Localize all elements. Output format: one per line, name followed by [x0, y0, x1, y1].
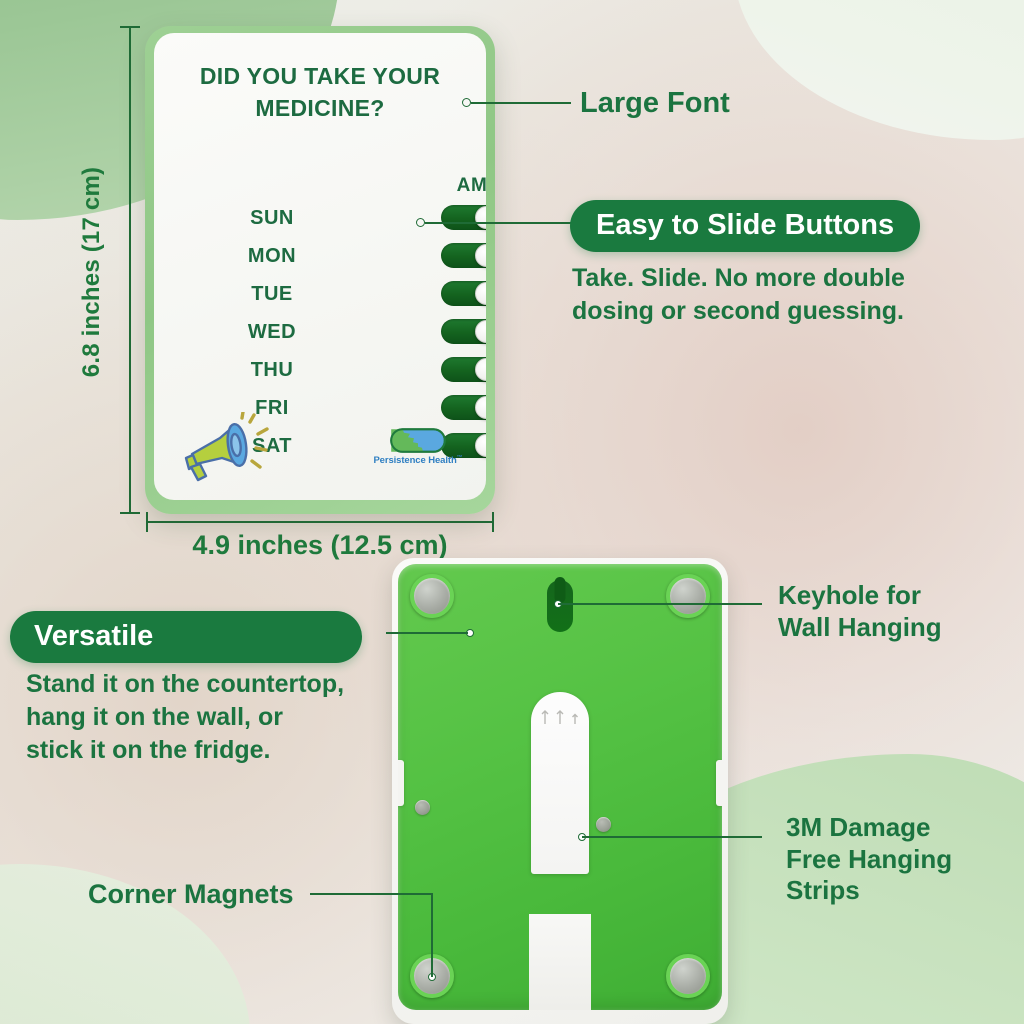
height-dimension-label: 6.8 inches (17 cm): [78, 162, 106, 382]
height-guide-cap-top: [120, 26, 140, 28]
width-dimension-label: 4.9 inches (12.5 cm): [146, 530, 494, 561]
toggle-knob: [475, 282, 486, 305]
edge-tab-left: [398, 760, 404, 806]
callout-connector-line: [310, 893, 432, 895]
card-title: DID YOU TAKE YOUR MEDICINE?: [154, 61, 486, 124]
day-row-tue: TUE: [154, 281, 486, 319]
strip-tab-icons: [537, 708, 583, 726]
callout-corner-magnets-label: Corner Magnets: [88, 878, 294, 911]
callout-connector-line: [471, 102, 571, 104]
day-row-sun: SUN: [154, 205, 486, 243]
callout-connector-line: [558, 603, 762, 605]
callout-connector-elbow-v: [431, 893, 433, 977]
toggle-tue-am[interactable]: [441, 281, 486, 306]
callout-easy-slide-body: Take. Slide. No more double dosing or se…: [572, 262, 905, 328]
toggle-knob: [475, 320, 486, 343]
toggle-knob: [475, 434, 486, 457]
callout-hanging-strips-label: 3M Damage Free Hanging Strips: [786, 812, 952, 907]
width-guide-cap-left: [146, 512, 148, 532]
callout-anchor-dot: [462, 98, 471, 107]
corner-magnet-bottom-right: [666, 954, 710, 998]
day-row-mon: MON: [154, 243, 486, 281]
hanging-strip: [531, 692, 589, 874]
width-guide-cap-right: [492, 512, 494, 532]
callout-anchor-dot: [416, 218, 425, 227]
callout-connector-line: [386, 632, 468, 634]
brand-logo: Persistence Health™: [366, 428, 470, 478]
toggle-knob: [475, 206, 486, 229]
pill-logo-icon: [390, 428, 446, 453]
callout-easy-slide-title: Easy to Slide Buttons: [570, 200, 920, 252]
screw-right: [596, 817, 611, 832]
toggle-mon-am[interactable]: [441, 243, 486, 268]
height-guide-line: [129, 26, 131, 514]
toggle-thu-am[interactable]: [441, 357, 486, 382]
toggle-sun-am[interactable]: [441, 205, 486, 230]
megaphone-icon: [176, 412, 272, 482]
day-label: TUE: [216, 281, 328, 307]
column-header-am: AM: [440, 175, 486, 197]
brand-name-text: Persistence Health: [373, 455, 456, 466]
day-label: THU: [216, 357, 328, 383]
toggle-knob: [475, 244, 486, 267]
card-face: DID YOU TAKE YOUR MEDICINE? AM PM SUN MO…: [154, 33, 486, 500]
background-blob-top-right: [734, 0, 1024, 140]
corner-magnet-top-right: [666, 574, 710, 618]
callout-keyhole-label: Keyhole for Wall Hanging: [778, 580, 942, 643]
corner-magnet-top-left: [410, 574, 454, 618]
callout-connector-line: [425, 222, 573, 224]
day-row-thu: THU: [154, 357, 486, 395]
day-label: WED: [216, 319, 328, 345]
toggle-knob: [475, 396, 486, 419]
toggle-wed-am[interactable]: [441, 319, 486, 344]
edge-tab-right: [716, 760, 722, 806]
callout-versatile-title: Versatile: [10, 611, 362, 663]
stand-notch: [529, 914, 591, 1010]
toggle-knob: [475, 358, 486, 381]
trademark-symbol: ™: [457, 455, 463, 461]
callout-versatile-body: Stand it on the countertop, hang it on t…: [26, 668, 344, 767]
medicine-tracker-card: DID YOU TAKE YOUR MEDICINE? AM PM SUN MO…: [145, 26, 495, 514]
day-label: SUN: [216, 205, 328, 231]
callout-large-font-label: Large Font: [580, 86, 730, 121]
back-panel-view: [392, 558, 728, 1024]
callout-connector-line: [582, 836, 762, 838]
height-guide-cap-bottom: [120, 512, 140, 514]
day-row-wed: WED: [154, 319, 486, 357]
infographic-canvas: 6.8 inches (17 cm) 4.9 inches (12.5 cm) …: [0, 0, 1024, 1024]
back-panel-surface: [398, 564, 722, 1010]
screw-left: [415, 800, 430, 815]
toggle-fri-am[interactable]: [441, 395, 486, 420]
width-guide-line: [146, 521, 494, 523]
day-label: MON: [216, 243, 328, 269]
